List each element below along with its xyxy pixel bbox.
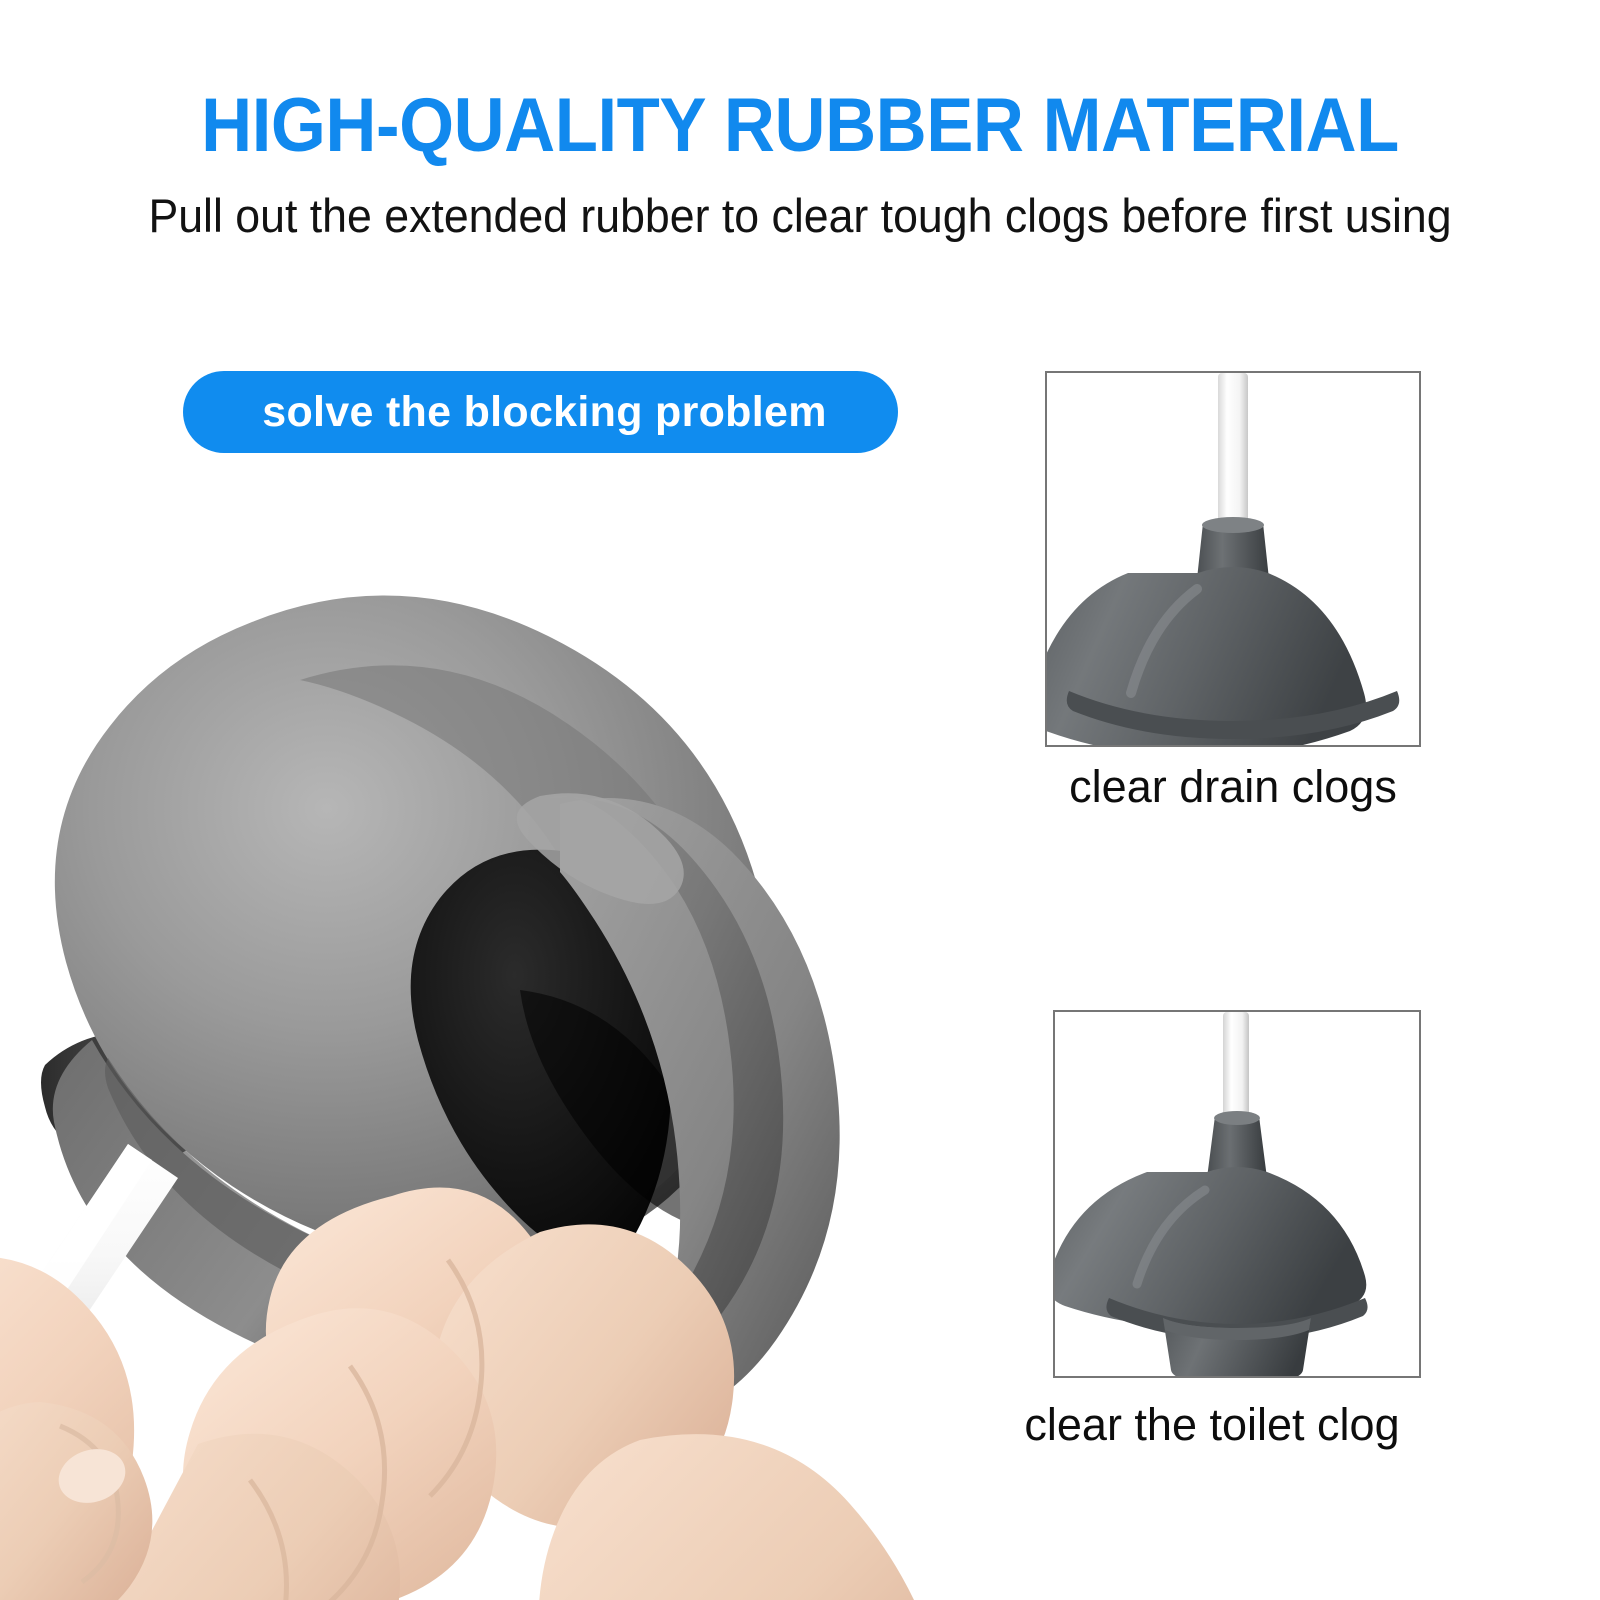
page-subtitle: Pull out the extended rubber to clear to… (40, 188, 1560, 244)
panel-frame-toilet (1053, 1010, 1421, 1378)
page-title: HIGH-QUALITY RUBBER MATERIAL (56, 86, 1544, 166)
feature-badge: solve the blocking problem (183, 371, 898, 453)
hero-product-photo (0, 560, 990, 1600)
toilet-plunger-with-flange-photo (1055, 1012, 1419, 1376)
panel-caption-toilet: clear the toilet clog (992, 1398, 1432, 1452)
panel-caption-drain: clear drain clogs (1013, 760, 1453, 814)
panel-frame-drain (1045, 371, 1421, 747)
sink-plunger-photo (1047, 373, 1419, 745)
feature-badge-label: solve the blocking problem (183, 371, 898, 453)
infographic-page: HIGH-QUALITY RUBBER MATERIAL Pull out th… (0, 0, 1600, 1600)
